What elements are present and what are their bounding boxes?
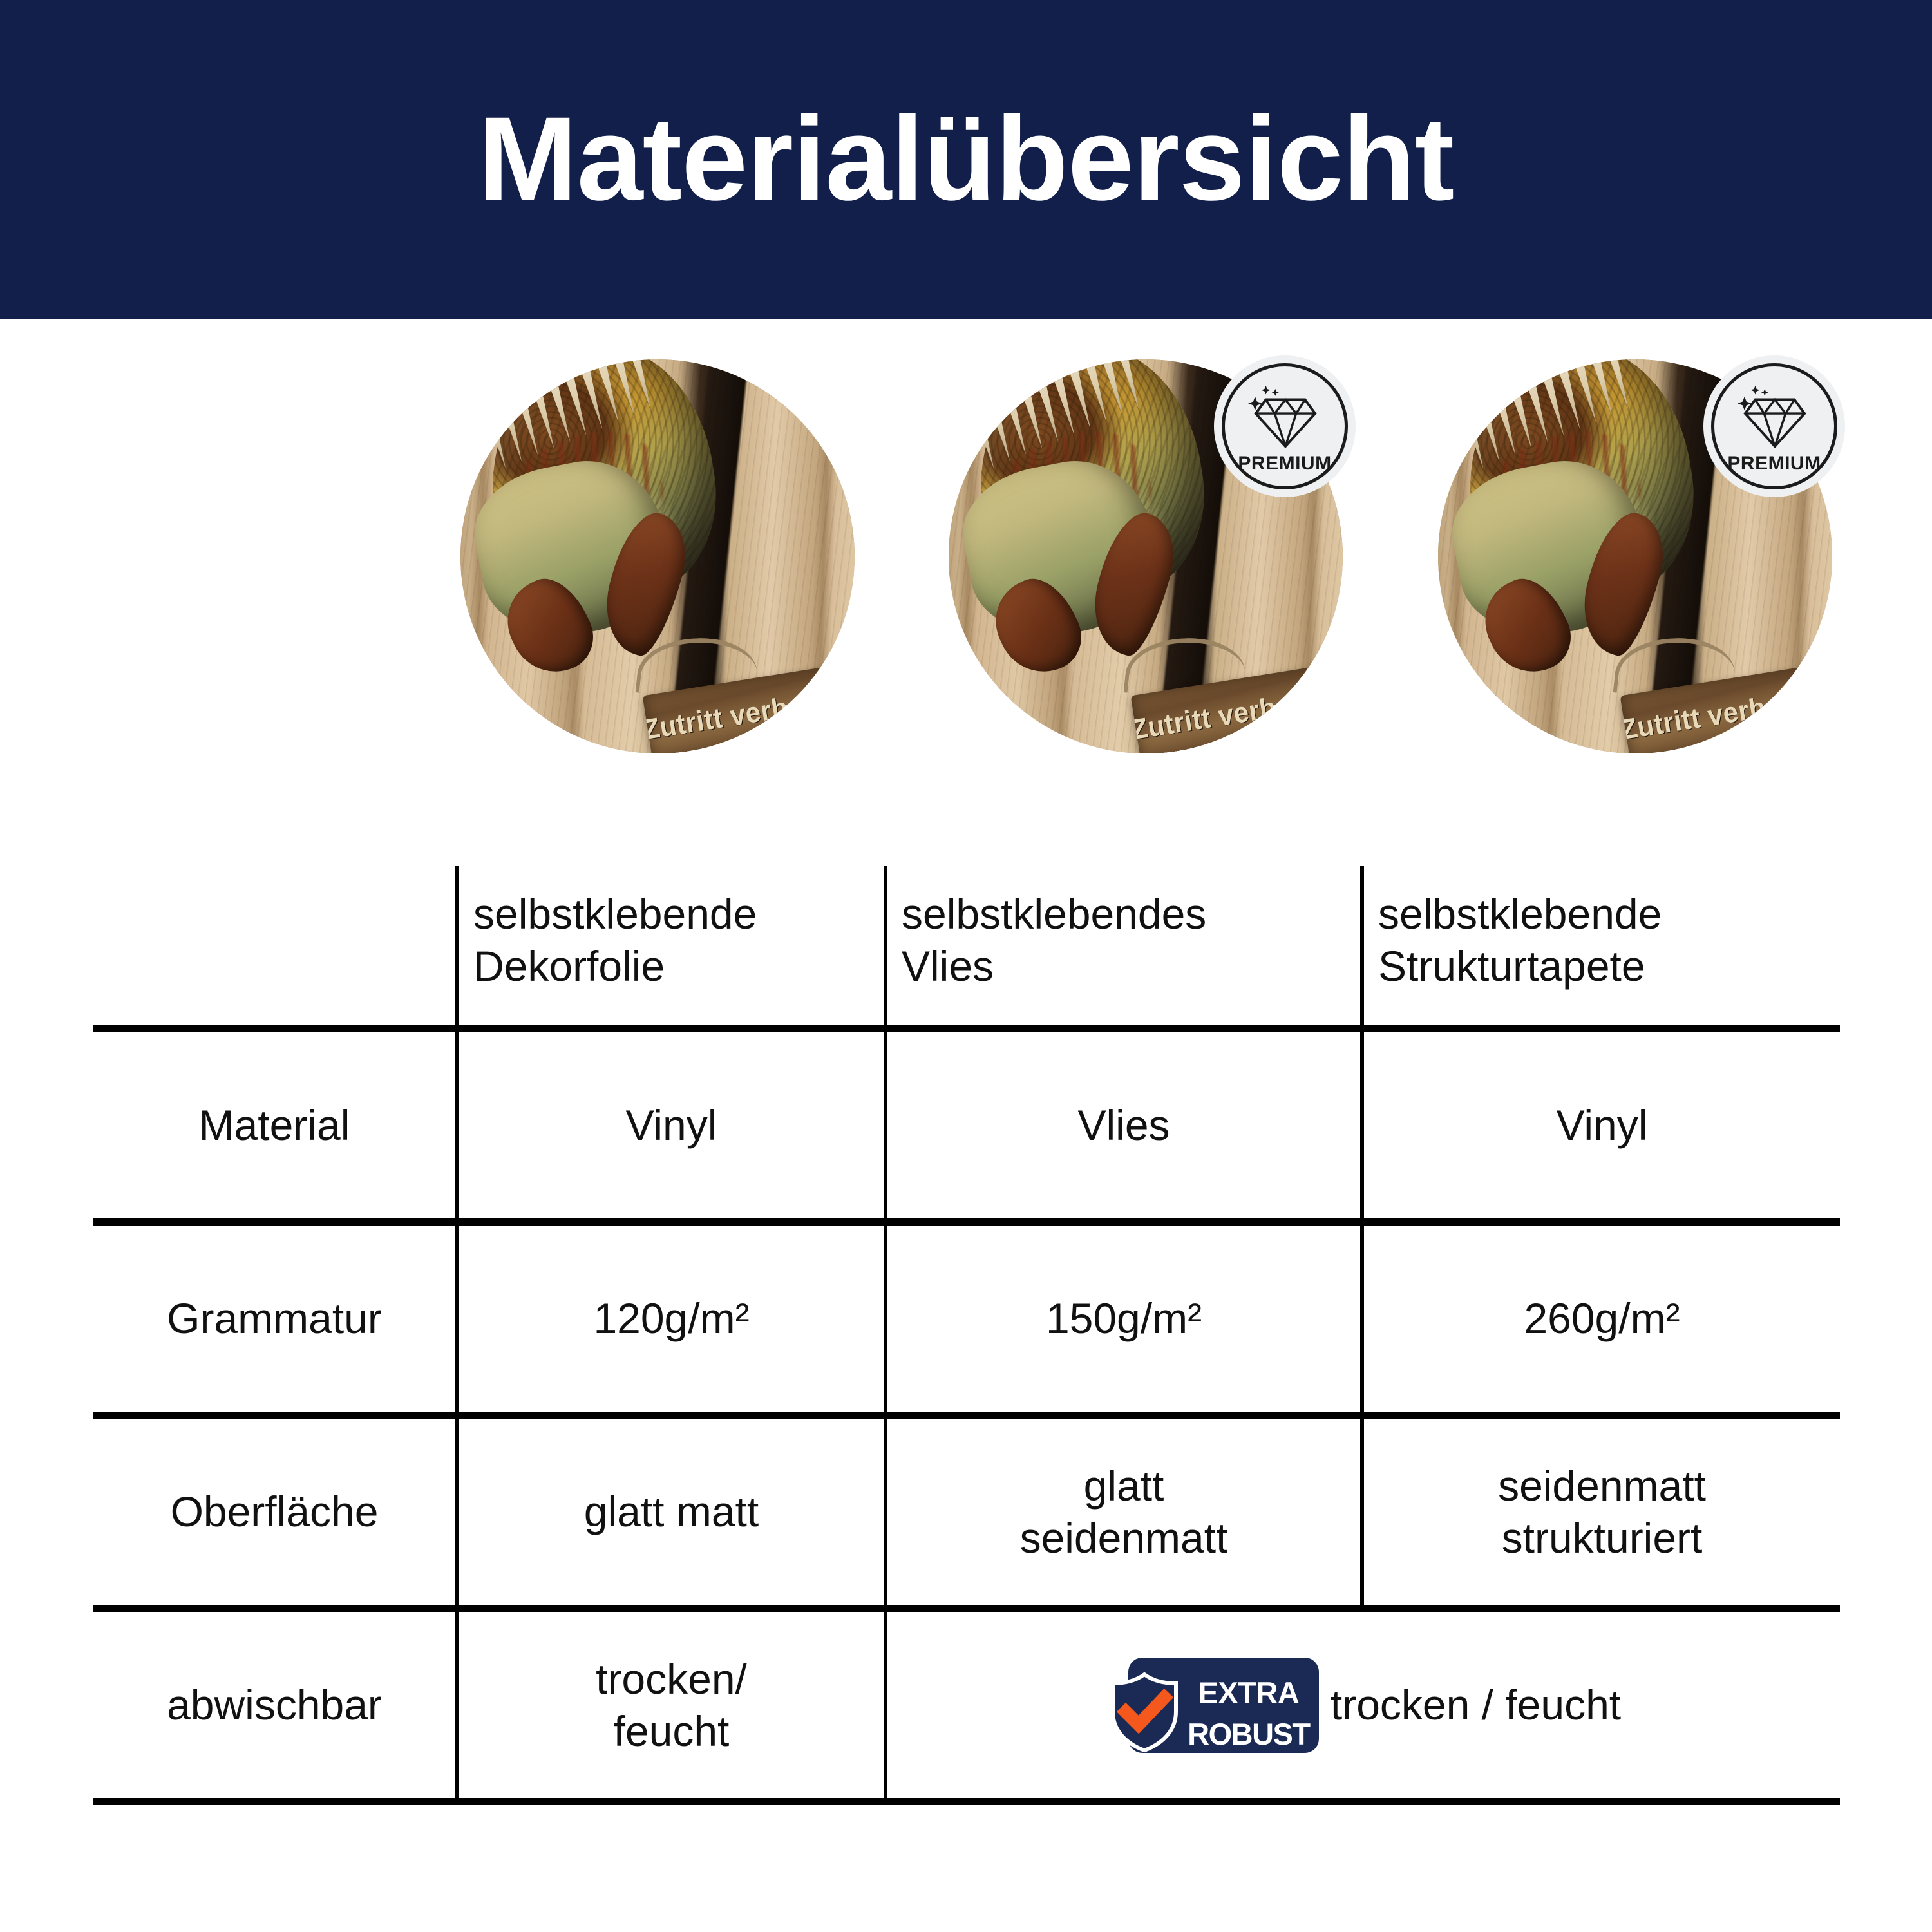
cell-line1: glatt matt	[466, 1486, 877, 1538]
cell-grammatur-vlies: 150g/m²	[885, 1222, 1362, 1416]
cell-line2: strukturiert	[1370, 1512, 1833, 1564]
table-row-abwischbar: abwischbar trocken/ feucht	[93, 1609, 1840, 1802]
material-spec-table: selbstklebende Dekorfolie selbstklebende…	[93, 866, 1840, 1805]
column-header-line2: Vlies	[902, 940, 1346, 992]
extra-robust-badge: EXTRA ROBUST	[1106, 1658, 1319, 1753]
sign-text: Zutritt verboten	[1131, 683, 1335, 747]
cell-material-dekorfolie: Vinyl	[457, 1029, 885, 1222]
product-image-circle: Zutritt verboten	[460, 359, 855, 753]
cell-oberflaeche-vlies: glatt seidenmatt	[885, 1416, 1362, 1609]
cell-grammatur-dekorfolie: 120g/m²	[457, 1222, 885, 1416]
sign-text: Zutritt verboten	[643, 683, 847, 747]
cell-oberflaeche-strukturtapete: seidenmatt strukturiert	[1362, 1416, 1840, 1609]
row-label-grammatur: Grammatur	[93, 1222, 457, 1416]
dinosaur-illustration	[468, 359, 728, 675]
hanging-sign: Zutritt verboten	[1611, 635, 1824, 753]
cell-line1: trocken/	[466, 1653, 877, 1705]
table-row-oberflaeche: Oberfläche glatt matt glatt seidenmatt s…	[93, 1416, 1840, 1609]
badge-line1: EXTRA	[1198, 1676, 1299, 1710]
premium-badge-label: PREMIUM	[1727, 453, 1821, 475]
column-header-line1: selbstklebendes	[902, 888, 1346, 940]
column-header-line1: selbstklebende	[473, 888, 869, 940]
variant-image-vlies[interactable]: Zutritt verboten	[949, 359, 1343, 753]
table-header-row: selbstklebende Dekorfolie selbstklebende…	[93, 866, 1840, 1029]
cell-abwischbar-merged-text: trocken / feucht	[1331, 1679, 1621, 1731]
column-header-dekorfolie: selbstklebende Dekorfolie	[457, 866, 885, 1029]
header-banner: Materialübersicht	[0, 0, 1932, 319]
cell-line2: seidenmatt	[894, 1512, 1354, 1564]
table-row-grammatur: Grammatur 120g/m² 150g/m² 260g/m²	[93, 1222, 1840, 1416]
page-title: Materialübersicht	[478, 100, 1454, 219]
diamond-icon	[1247, 383, 1323, 450]
header-corner-cell	[93, 866, 457, 1029]
cell-abwischbar-dekorfolie: trocken/ feucht	[457, 1609, 885, 1802]
variant-image-strukturtapete[interactable]: Zutritt verboten	[1438, 359, 1832, 753]
dinosaur-illustration	[956, 359, 1217, 675]
dinosaur-illustration	[1446, 359, 1706, 675]
row-label-oberflaeche: Oberfläche	[93, 1416, 457, 1609]
column-header-line2: Dekorfolie	[473, 940, 869, 992]
shield-check-icon	[1106, 1672, 1182, 1753]
column-header-strukturtapete: selbstklebende Strukturtapete	[1362, 866, 1840, 1029]
column-header-line1: selbstklebende	[1378, 888, 1826, 940]
cell-line2: feucht	[466, 1705, 877, 1757]
cell-grammatur-strukturtapete: 260g/m²	[1362, 1222, 1840, 1416]
badge-line2: ROBUST	[1188, 1717, 1309, 1751]
cell-line1: glatt	[894, 1460, 1354, 1512]
badge-words: EXTRA ROBUST	[1182, 1668, 1315, 1751]
variant-images-row: Zutritt verboten	[0, 359, 1932, 753]
column-header-line2: Strukturtapete	[1378, 940, 1826, 992]
premium-badge: PREMIUM	[1711, 363, 1837, 489]
cell-material-vlies: Vlies	[885, 1029, 1362, 1222]
material-overview-page: Materialübersicht	[0, 0, 1932, 1932]
column-header-vlies: selbstklebendes Vlies	[885, 866, 1362, 1029]
variant-image-dekorfolie[interactable]: Zutritt verboten	[460, 359, 855, 753]
cell-oberflaeche-dekorfolie: glatt matt	[457, 1416, 885, 1609]
table-row-material: Material Vinyl Vlies Vinyl	[93, 1029, 1840, 1222]
premium-badge: PREMIUM	[1222, 363, 1348, 489]
hanging-sign: Zutritt verboten	[1122, 635, 1334, 753]
cell-material-strukturtapete: Vinyl	[1362, 1029, 1840, 1222]
premium-badge-label: PREMIUM	[1238, 453, 1331, 475]
hanging-sign: Zutritt verboten	[634, 635, 846, 753]
row-label-abwischbar: abwischbar	[93, 1609, 457, 1802]
cell-line1: seidenmatt	[1370, 1460, 1833, 1512]
sign-text: Zutritt verboten	[1620, 683, 1824, 747]
row-label-material: Material	[93, 1029, 457, 1222]
diamond-icon	[1736, 383, 1812, 450]
cell-abwischbar-vlies-strukturtapete: EXTRA ROBUST trocken / feucht	[885, 1609, 1840, 1802]
